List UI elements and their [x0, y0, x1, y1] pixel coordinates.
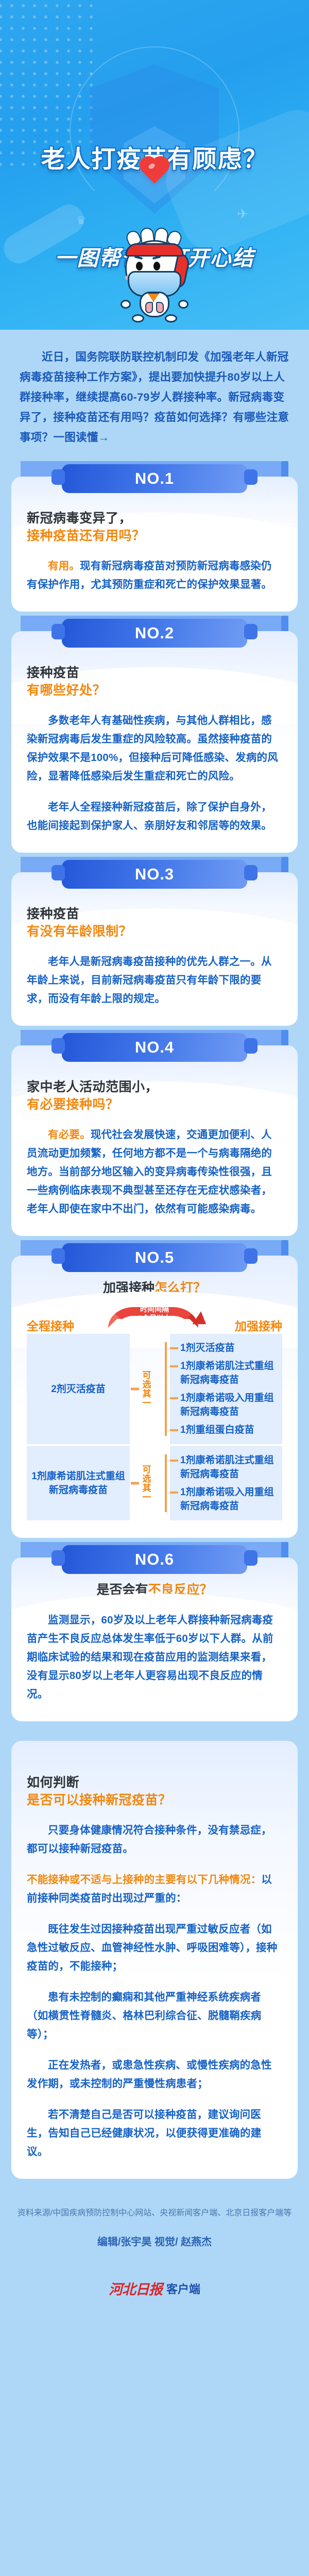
question-line-orange: 接种疫苗还有用吗？ [27, 527, 282, 545]
diagram-row: 1剂康希诺肌注式重组新冠病毒疫苗 可选其一 1剂康希诺肌注式重组新冠病毒疫苗 1… [27, 1446, 282, 1520]
booster-schedule-diagram: 全程接种 时间间隔3个月以上 加强接种 2剂灭活疫苗 [27, 1312, 282, 1520]
source-credit: 资料来源/中国疾病预防控制中心网站、央视新闻客户端、北京日报客户端等 [15, 2207, 294, 2220]
answer-1: 有用。现有新冠病毒疫苗对预防新冠病毒感染仍有保护作用，尤其预防重症和死亡的保护效… [27, 557, 282, 594]
question-6: 是否会有不良反应？ [27, 1581, 282, 1599]
diagram-option: 1剂康希诺吸入用重组新冠病毒疫苗 [170, 1389, 279, 1421]
qa-card-3: NO.3 接种疫苗 有没有年龄限制？ 老年人是新冠病毒疫苗接种的优先人群之一。从… [11, 857, 298, 1026]
answer-text: 现代社会发展快速，交通更加便利、人员流动更加频繁，任何地方都不是一个与病毒隔绝的… [27, 1129, 272, 1215]
mascot-lungs-icon [145, 300, 164, 313]
card-badge-3: NO.3 [62, 860, 247, 889]
diagram-option: 1剂康希诺肌注式重组新冠病毒疫苗 [170, 1451, 279, 1483]
diagram-head-right: 加强接种 [197, 1316, 282, 1334]
option-text: 1剂重组蛋白疫苗 [178, 1423, 254, 1437]
question-line-dark: 新冠病毒变异了， [27, 510, 282, 527]
editor-credit: 编辑/张宇昊 视觉/ 赵燕杰 [15, 2233, 294, 2248]
question-line-orange: 有没有年龄限制？ [27, 923, 282, 940]
infographic-page: ✈ ♛ 老人打疫苗有顾虑？ 一图帮爸妈打开心结 [0, 0, 309, 2324]
question-line-orange: 有哪些好处？ [27, 682, 282, 699]
card-badge-5: NO.5 [62, 1243, 247, 1272]
diagram-options: 1剂康希诺肌注式重组新冠病毒疫苗 1剂康希诺吸入用重组新冠病毒疫苗 [170, 1446, 282, 1520]
diagram-row: 2剂灭活疫苗 可选其一 1剂灭活疫苗 1剂康希诺肌注式重组新冠病毒疫苗 1剂康希… [27, 1334, 282, 1444]
question-line-orange: 有必要接种吗？ [27, 1096, 282, 1113]
diagram-options: 1剂灭活疫苗 1剂康希诺肌注式重组新冠病毒疫苗 1剂康希诺吸入用重组新冠病毒疫苗… [170, 1334, 282, 1444]
logo-text: 客户端 [166, 2280, 200, 2297]
qa-card-1: NO.1 新冠病毒变异了， 接种疫苗还有用吗？ 有用。现有新冠病毒疫苗对预防新冠… [11, 461, 298, 612]
answer-highlight: 不能接种或不适与上接种的主要有以下几种情况： [27, 1874, 261, 1886]
answer-4: 有必要。现代社会发展快速，交通更加便利、人员流动更加频繁，任何地方都不是一个与病… [27, 1126, 282, 1218]
arrow-label: 时间间隔3个月以上 [121, 1305, 188, 1323]
diagram-row-left: 1剂康希诺肌注式重组新冠病毒疫苗 [27, 1446, 130, 1520]
question-3: 接种疫苗 有没有年龄限制？ [27, 905, 282, 940]
answer-6: 监测显示，60岁及以上老年人群接种新冠病毒疫苗产生不良反应总体发生率低于60岁以… [27, 1611, 282, 1704]
answer-7-p3: 既往发生过因接种疫苗出现严重过敏反应者（如急性过敏反应、血管神经性水肿、呼吸困难… [27, 1920, 282, 1976]
diagram-connector: 可选其一 [130, 1334, 162, 1444]
diagram-option: 1剂灭活疫苗 [170, 1339, 279, 1357]
answer-7-p2: 不能接种或不适与上接种的主要有以下几种情况：以前接种同类疫苗时出现过严重的： [27, 1871, 282, 1908]
qa-card-2: NO.2 接种疫苗 有哪些好处？ 多数老年人有基础性疾病，与其他人群相比，感染新… [11, 616, 298, 853]
answer-7-p1: 只要身体健康情况符合接种条件，没有禁忌症，都可以接种新冠疫苗。 [27, 1821, 282, 1858]
answer-highlight: 有必要。 [48, 1129, 91, 1141]
qa-card-4: NO.4 家中老人活动范围小， 有必要接种吗？ 有必要。现代社会发展快速，交通更… [11, 1030, 298, 1236]
answer-2-p2: 老年人全程接种新冠疫苗后，除了保护自身外，也能间接起到保护家人、亲朋好友和邻居等… [27, 798, 282, 835]
mascot-foot-right [165, 314, 177, 323]
mascot-arm-left [121, 300, 131, 309]
question-part-dark: 是否会有 [96, 1583, 148, 1597]
intro-paragraph: 近日，国务院联防联控机制印发《加强老年人新冠病毒疫苗接种工作方案》，提出要加快提… [0, 330, 309, 461]
qa-card-6: NO.6 是否会有不良反应？ 监测显示，60岁及以上老年人群接种新冠病毒疫苗产生… [11, 1542, 298, 1721]
question-line-dark: 家中老人活动范围小， [27, 1078, 282, 1096]
option-text: 1剂康希诺吸入用重组新冠病毒疫苗 [178, 1485, 279, 1513]
option-text: 1剂康希诺肌注式重组新冠病毒疫苗 [178, 1359, 279, 1387]
footer: 资料来源/中国疾病预防控制中心网站、央视新闻客户端、北京日报客户端等 编辑/张宇… [0, 2183, 309, 2319]
question-5: 加强接种怎么打？ [27, 1279, 282, 1297]
question-line-dark: 接种疫苗 [27, 664, 282, 682]
mascot-eye-left [136, 262, 143, 270]
question-1: 新冠病毒变异了， 接种疫苗还有用吗？ [27, 510, 282, 545]
mascot-arm-right [178, 300, 188, 309]
card-badge-2: NO.2 [62, 619, 247, 648]
question-4: 家中老人活动范围小， 有必要接种吗？ [27, 1078, 282, 1113]
card-badge-1: NO.1 [62, 464, 247, 493]
diagram-option: 1剂康希诺肌注式重组新冠病毒疫苗 [170, 1357, 279, 1389]
diagram-head-left: 全程接种 [27, 1316, 112, 1334]
answer-2: 多数老年人有基础性疾病，与其他人群相比，感染新冠病毒后发生重症的风险较高。虽然接… [27, 711, 282, 786]
card-badge-6: NO.6 [62, 1545, 247, 1574]
mascot-foot-left [132, 314, 144, 323]
option-text: 1剂康希诺吸入用重组新冠病毒疫苗 [178, 1391, 279, 1419]
mascot-eye-right [153, 262, 160, 270]
diagram-brace [162, 1334, 170, 1444]
card-badge-4: NO.4 [62, 1033, 247, 1062]
diagram-option: 1剂康希诺吸入用重组新冠病毒疫苗 [170, 1483, 279, 1515]
diagram-brace [162, 1446, 170, 1520]
question-part-dark: 加强接种 [103, 1281, 154, 1295]
answer-7-p5: 正在发热者，或患急性疾病、或慢性疾病的急性发作期，或未控制的严重慢性病患者； [27, 2056, 282, 2093]
diagram-rows: 2剂灭活疫苗 可选其一 1剂灭活疫苗 1剂康希诺肌注式重组新冠病毒疫苗 1剂康希… [27, 1334, 282, 1520]
mascot-character [113, 228, 196, 326]
logo-mark: 河北日报 [109, 2278, 162, 2298]
question-line-dark: 如何判断 [27, 1774, 282, 1791]
option-text: 1剂灭活疫苗 [178, 1341, 235, 1355]
question-2: 接种疫苗 有哪些好处？ [27, 664, 282, 699]
question-part-orange: 怎么打？ [154, 1281, 206, 1295]
diagram-row-left: 2剂灭活疫苗 [27, 1334, 130, 1444]
choose-one-label: 可选其一 [140, 1465, 152, 1502]
content-area: 近日，国务院联防联控机制印发《加强老年人新冠病毒疫苗接种工作方案》，提出要加快提… [0, 330, 309, 2324]
diagram-connector: 可选其一 [130, 1446, 162, 1520]
question-line-orange: 是否可以接种新冠疫苗？ [27, 1791, 282, 1809]
qa-card-5: NO.5 加强接种怎么打？ 全程接种 时间间隔3个月以上 加强接种 [11, 1240, 298, 1538]
question-part-orange: 不良反应？ [148, 1583, 213, 1597]
question-7: 如何判断 是否可以接种新冠疫苗？ [27, 1774, 282, 1809]
hero-header: ✈ ♛ 老人打疫苗有顾虑？ 一图帮爸妈打开心结 [0, 0, 309, 330]
diagram-headers: 全程接种 时间间隔3个月以上 加强接种 [27, 1312, 282, 1334]
answer-3: 老年人是新冠病毒疫苗接种的优先人群之一。从年龄上来说，目前新冠病毒疫苗只有年龄下… [27, 953, 282, 1008]
transition-arrow-icon: 时间间隔3个月以上 [103, 1304, 206, 1336]
qa-card-7: 如何判断 是否可以接种新冠疫苗？ 只要身体健康情况符合接种条件，没有禁忌症，都可… [11, 1725, 298, 2179]
choose-one-label: 可选其一 [140, 1370, 152, 1408]
publisher-logo: 河北日报 客户端 [15, 2278, 294, 2298]
answer-7-p6: 若不清楚自己是否可以接种疫苗，建议询问医生，告知自己已经健康状况，以便获得更准确… [27, 2106, 282, 2161]
answer-highlight: 有用。 [48, 560, 80, 572]
answer-7-p4: 患有未控制的癫痫和其他严重神经系统疾病者（如横贯性脊髓炎、格林巴利综合征、脱髓鞘… [27, 1988, 282, 2044]
option-text: 1剂康希诺肌注式重组新冠病毒疫苗 [178, 1453, 279, 1481]
diagram-option: 1剂重组蛋白疫苗 [170, 1421, 279, 1439]
question-line-dark: 接种疫苗 [27, 905, 282, 923]
mascot-headband [126, 243, 184, 257]
